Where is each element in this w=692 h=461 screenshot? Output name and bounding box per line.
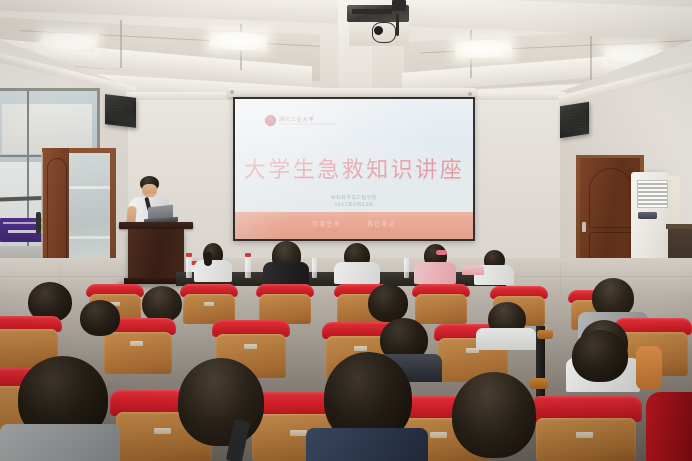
slide-subtitle-line-1: 材料科学与工程学院 [235,195,473,201]
seat-number-plate [130,341,143,346]
seat-number-plate [576,432,593,438]
left-door-handle[interactable] [36,212,41,234]
seat-row-c-5[interactable] [530,396,642,461]
front-row-bottle-1 [186,256,192,278]
ceiling-tile-line-6 [590,36,592,84]
projector-top-module [392,0,406,11]
seat-number-plate [430,432,447,438]
audience-front-hairclip-4 [436,250,447,255]
seat-row-a-2[interactable] [180,284,238,324]
slide-title: 大学生急救知识讲座 [235,152,473,184]
audience-front-torso-1 [194,260,232,282]
university-name-en: HUBEI UNIVERSITY OF TECHNOLOGY [279,123,337,126]
seat-number-plate [154,428,171,434]
front-row-paper-stack [462,266,484,275]
screen-housing [228,88,476,97]
front-row-bottle-3 [312,258,317,278]
seat-number-plate [290,430,307,436]
audience-torso-c3 [306,428,428,461]
ceiling-light-1 [38,32,100,52]
projection-screen: 湖北工业大学 HUBEI UNIVERSITY OF TECHNOLOGY 大学… [233,97,475,241]
lecture-hall-photo: 湖北工业大学 HUBEI UNIVERSITY OF TECHNOLOGY 大学… [0,0,692,461]
projector-cable-2 [396,14,399,36]
ac-vent [637,180,668,208]
ceiling-light-3 [454,39,513,59]
left-door-sidelight-shelf-1 [68,186,110,189]
slide-subtitle-line-2: 2021年6月23日 [235,202,473,208]
right-door-panel-upper [589,168,633,228]
seat-armrest-2 [530,378,548,389]
audience-head-c4 [452,372,536,458]
university-name-cn: 湖北工业大学 [279,116,337,123]
audience-head-a2 [142,286,182,322]
seat-back [415,294,467,324]
audience-shirt-mid-2 [476,328,536,350]
seat-number-plate [244,344,257,349]
seat-row-a-5[interactable] [412,284,470,324]
projector-cable [372,22,396,43]
screen-mount-right [468,92,472,96]
audience-head-mid-1 [80,300,120,336]
seat-side-panel-right [646,392,692,461]
front-row-bottle-4 [404,258,409,278]
slide-logo: 湖北工业大学 HUBEI UNIVERSITY OF TECHNOLOGY [265,115,337,126]
slide-footer-band: 珍爱生命 SAFETY FIRST 救在身边 FIRST AID [235,212,473,239]
projector-bracket [352,9,392,14]
ceiling-tile-line-2 [120,20,122,68]
audience-front-torso-4 [414,262,456,284]
front-row-bottle-cap-1 [186,253,192,257]
right-speaker-grille [563,106,586,134]
audience-head-c5 [572,330,628,382]
slide-band-item-1: 珍爱生命 SAFETY FIRST [312,219,341,232]
audience-arm-orange [636,346,662,390]
corridor-back-wall [2,104,92,154]
front-row-bottle-2 [245,256,251,278]
seat-back [536,418,636,461]
seat-number-plate [204,302,214,306]
slide-surface: 湖北工业大学 HUBEI UNIVERSITY OF TECHNOLOGY 大学… [235,99,473,239]
front-row-bottle-cap-2 [245,253,251,257]
right-door-handle[interactable] [582,222,586,232]
floor-tile-line-3 [560,262,561,294]
ac-display[interactable] [638,212,657,219]
left-door-sidelight-shelf-2 [68,236,110,239]
lectern-top [119,222,193,229]
university-name-block: 湖北工业大学 HUBEI UNIVERSITY OF TECHNOLOGY [279,116,337,126]
audience-torso-c1 [0,424,120,461]
screen-mount-left [230,90,234,94]
university-emblem-icon [265,115,276,126]
seat-armrest-1 [537,330,553,339]
left-speaker-grille [108,98,133,123]
seat-number-plate [354,346,367,351]
cabinet-top-edge [666,224,692,229]
slide-band-item-2: 救在身边 FIRST AID [367,219,396,232]
audience-front-torso-3 [334,262,380,284]
audience-head-a3 [368,284,408,322]
seat-row-a-3[interactable] [256,284,314,324]
audience-front-ponytail-1 [204,252,212,266]
audience-head-c2 [178,358,264,446]
seat-back [104,332,172,374]
ceiling-light-2 [209,31,268,51]
audience-front-torso-2 [263,262,309,284]
